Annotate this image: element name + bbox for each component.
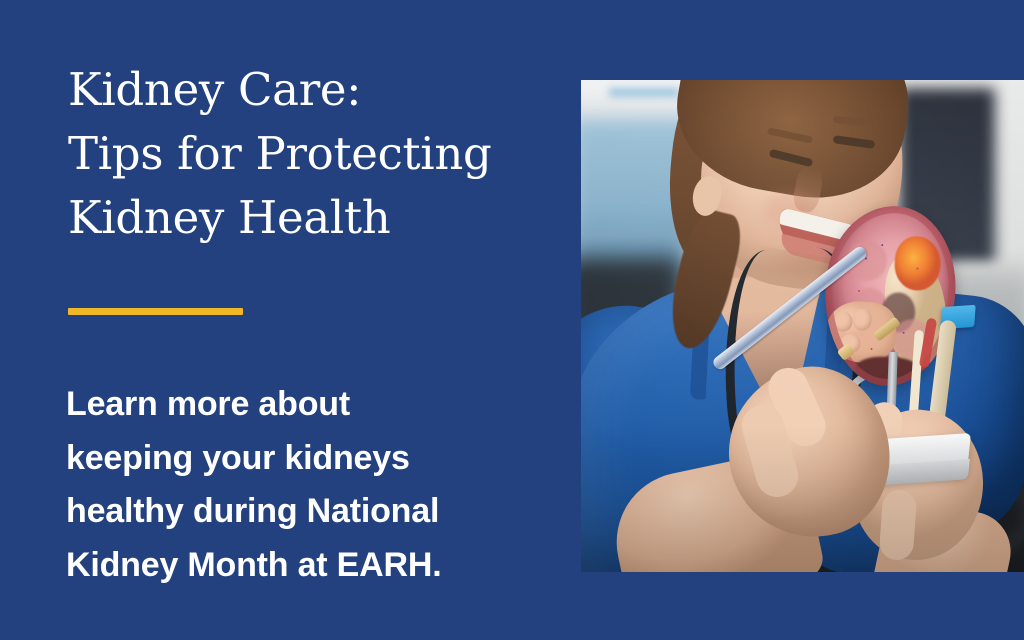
promotional-slide: Kidney Care: Tips for Protecting Kidney …	[0, 0, 1024, 640]
subcopy-text: Learn more about keeping your kidneys he…	[66, 378, 536, 593]
text-column: Kidney Care: Tips for Protecting Kidney …	[68, 58, 548, 250]
page-title: Kidney Care: Tips for Protecting Kidney …	[68, 58, 548, 250]
photo-inner	[581, 80, 1024, 572]
gold-accent-rule	[68, 308, 243, 315]
nurse-figure	[581, 80, 1024, 572]
finger-right-b	[879, 489, 918, 561]
hero-photo	[581, 80, 1024, 572]
